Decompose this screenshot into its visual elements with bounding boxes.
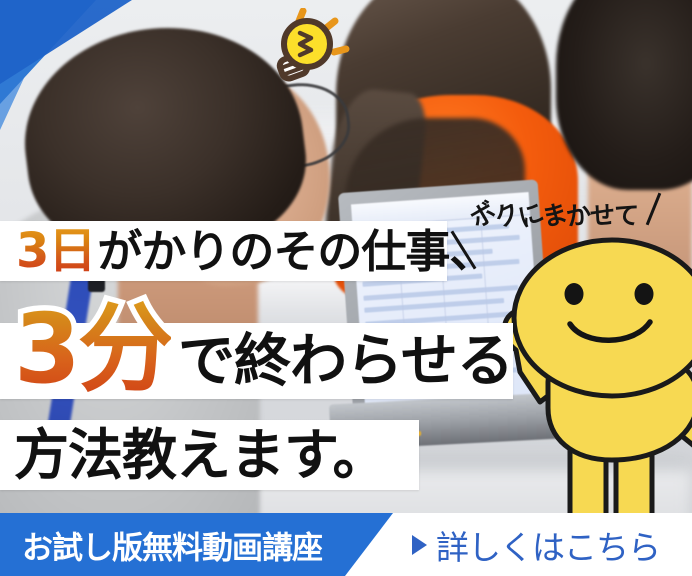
blue-diagonal-corner-dark bbox=[0, 0, 132, 84]
photo-person-right-hair bbox=[556, 0, 692, 190]
yellow-smiley-mascot bbox=[492, 232, 692, 534]
headline-2-text: で終わらせる bbox=[178, 333, 513, 390]
speech-char: せ bbox=[589, 195, 615, 232]
headline-2-highlight-fill: 3分 bbox=[14, 293, 171, 405]
cta-label: お試し版無料動画講座 bbox=[22, 522, 322, 567]
promo-banner: ボクにまかせて bbox=[0, 0, 692, 576]
speech-char: て bbox=[614, 196, 639, 232]
speech-bubble-text: ボクにまかせて bbox=[470, 196, 638, 232]
headline-band-1: 3日 がかりのその仕事、 bbox=[0, 221, 447, 281]
cta-link-text: 詳しくはこちら bbox=[436, 521, 660, 569]
cta-link[interactable]: 詳しくはこちら bbox=[412, 521, 660, 569]
headline-2-highlight: 3分 3分 bbox=[14, 301, 171, 397]
lightbulb-icon bbox=[262, 8, 354, 86]
speech-char: か bbox=[564, 195, 593, 234]
headline-1-text: がかりのその仕事、 bbox=[97, 229, 493, 274]
headline-band-3: 方法教えます。 bbox=[0, 420, 419, 490]
cta-bar: お試し版無料動画講座 詳しくはこちら bbox=[0, 513, 692, 576]
headline-3-text: 方法教えます。 bbox=[14, 428, 387, 483]
headline-2-highlight-wrap: 3分 3分 bbox=[14, 296, 171, 402]
play-triangle-icon bbox=[412, 535, 427, 555]
headline-1-highlight: 3日 bbox=[16, 227, 95, 275]
